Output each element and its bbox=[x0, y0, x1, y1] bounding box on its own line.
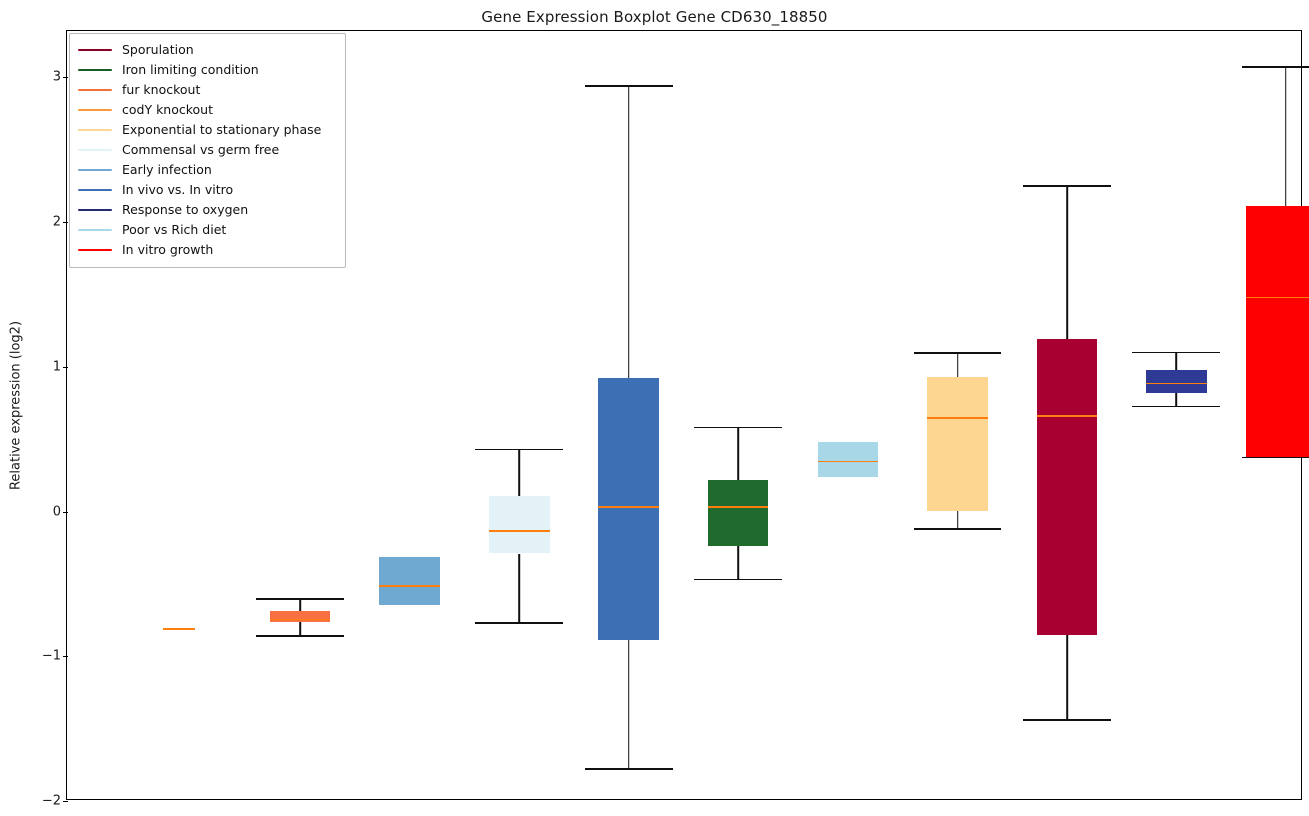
legend-item[interactable]: Iron limiting condition bbox=[78, 60, 337, 80]
legend-color-swatch bbox=[78, 49, 112, 51]
legend-color-swatch bbox=[78, 249, 112, 251]
legend-item[interactable]: Early infection bbox=[78, 160, 337, 180]
whisker-upper bbox=[1285, 66, 1287, 206]
y-axis-tick-mark bbox=[63, 801, 68, 802]
y-axis-tick-label: 2 bbox=[53, 215, 61, 230]
median-line bbox=[1246, 297, 1309, 299]
legend-color-swatch bbox=[78, 89, 112, 91]
legend-color-swatch bbox=[78, 109, 112, 111]
legend-item[interactable]: Sporulation bbox=[78, 40, 337, 60]
legend-item-label: Commensal vs germ free bbox=[122, 140, 279, 160]
legend-item-label: fur knockout bbox=[122, 80, 200, 100]
legend-color-swatch bbox=[78, 149, 112, 151]
y-axis-tick-label: −1 bbox=[42, 649, 61, 664]
legend-item-label: codY knockout bbox=[122, 100, 213, 120]
legend-item[interactable]: Commensal vs germ free bbox=[78, 140, 337, 160]
legend-color-swatch bbox=[78, 229, 112, 231]
legend-item[interactable]: fur knockout bbox=[78, 80, 337, 100]
y-axis-tick-label: 0 bbox=[53, 504, 61, 519]
y-axis-label: Relative expression (log2) bbox=[9, 246, 24, 566]
legend-item-label: Poor vs Rich diet bbox=[122, 220, 226, 240]
legend-item-label: Response to oxygen bbox=[122, 200, 248, 220]
legend-item[interactable]: codY knockout bbox=[78, 100, 337, 120]
legend-item-label: Early infection bbox=[122, 160, 212, 180]
legend-color-swatch bbox=[78, 69, 112, 71]
legend-color-swatch bbox=[78, 129, 112, 131]
legend: SporulationIron limiting conditionfur kn… bbox=[69, 33, 346, 268]
page-title: Gene Expression Boxplot Gene CD630_18850 bbox=[0, 8, 1309, 26]
legend-item[interactable]: Exponential to stationary phase bbox=[78, 120, 337, 140]
whisker-cap-lower bbox=[1242, 457, 1309, 459]
legend-color-swatch bbox=[78, 209, 112, 211]
legend-item[interactable]: In vitro growth bbox=[78, 240, 337, 260]
y-axis-tick-label: 1 bbox=[53, 359, 61, 374]
legend-item-label: In vivo vs. In vitro bbox=[122, 180, 233, 200]
legend-item[interactable]: In vivo vs. In vitro bbox=[78, 180, 337, 200]
y-axis-tick-label: −2 bbox=[42, 794, 61, 809]
legend-item[interactable]: Response to oxygen bbox=[78, 200, 337, 220]
box-rect bbox=[1246, 206, 1309, 456]
legend-item-label: Exponential to stationary phase bbox=[122, 120, 321, 140]
legend-item[interactable]: Poor vs Rich diet bbox=[78, 220, 337, 240]
whisker-cap-upper bbox=[1242, 66, 1309, 68]
legend-item-label: Iron limiting condition bbox=[122, 60, 259, 80]
legend-color-swatch bbox=[78, 189, 112, 191]
legend-item-label: In vitro growth bbox=[122, 240, 213, 260]
chart-page: Gene Expression Boxplot Gene CD630_18850… bbox=[0, 0, 1309, 816]
y-axis-tick-label: 3 bbox=[53, 70, 61, 85]
legend-item-label: Sporulation bbox=[122, 40, 194, 60]
legend-color-swatch bbox=[78, 169, 112, 171]
